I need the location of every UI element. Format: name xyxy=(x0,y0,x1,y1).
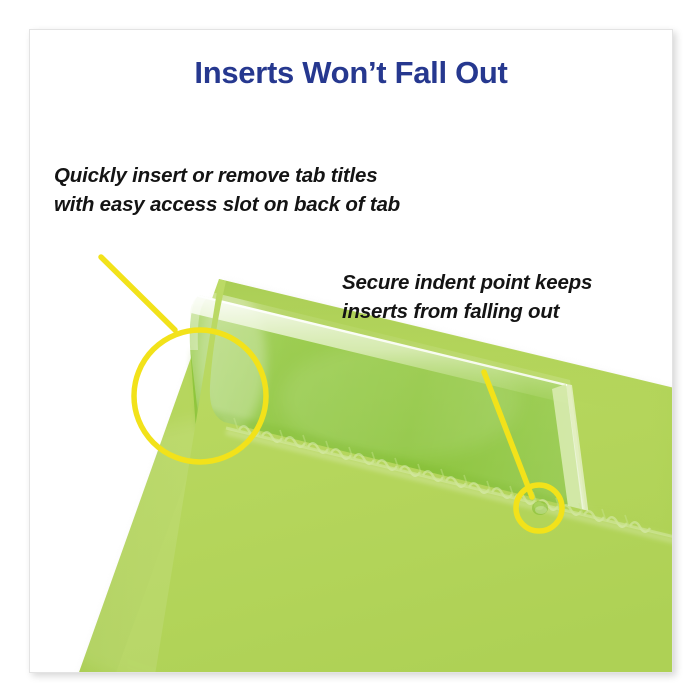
callout-text-indent-point: Secure indent point keeps inserts from f… xyxy=(342,268,592,326)
product-photo xyxy=(29,29,673,673)
secure-indent-point xyxy=(532,501,548,515)
page-title: Inserts Won’t Fall Out xyxy=(30,55,672,91)
callout-text-tab-slot: Quickly insert or remove tab titles with… xyxy=(54,161,400,219)
product-image-card: Inserts Won’t Fall Out Quickly insert or… xyxy=(29,29,673,673)
screenshot-stage: Inserts Won’t Fall Out Quickly insert or… xyxy=(0,0,700,700)
